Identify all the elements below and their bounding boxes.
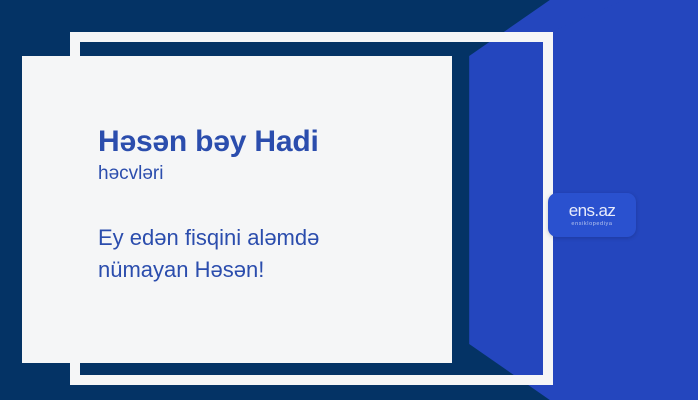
poem-line: nümayan Həsən! bbox=[98, 254, 432, 286]
poem-block: Ey edən fisqini aləmdə nümayan Həsən! bbox=[98, 222, 432, 286]
quote-card-canvas: Həsən bəy Hadi həcvləri Ey edən fisqini … bbox=[0, 0, 698, 400]
logo-wordmark: ens.az bbox=[569, 202, 616, 219]
content-card-text-block: Həsən bəy Hadi həcvləri Ey edən fisqini … bbox=[98, 126, 432, 286]
logo-tagline: ensiklopediya bbox=[571, 222, 612, 228]
page-title: Həsən bəy Hadi bbox=[98, 126, 432, 158]
content-card: Həsən bəy Hadi həcvləri Ey edən fisqini … bbox=[22, 56, 452, 363]
page-subtitle: həcvləri bbox=[98, 162, 432, 186]
ens-az-logo-badge[interactable]: ens.az ensiklopediya bbox=[548, 193, 636, 237]
poem-line: Ey edən fisqini aləmdə bbox=[98, 222, 432, 254]
